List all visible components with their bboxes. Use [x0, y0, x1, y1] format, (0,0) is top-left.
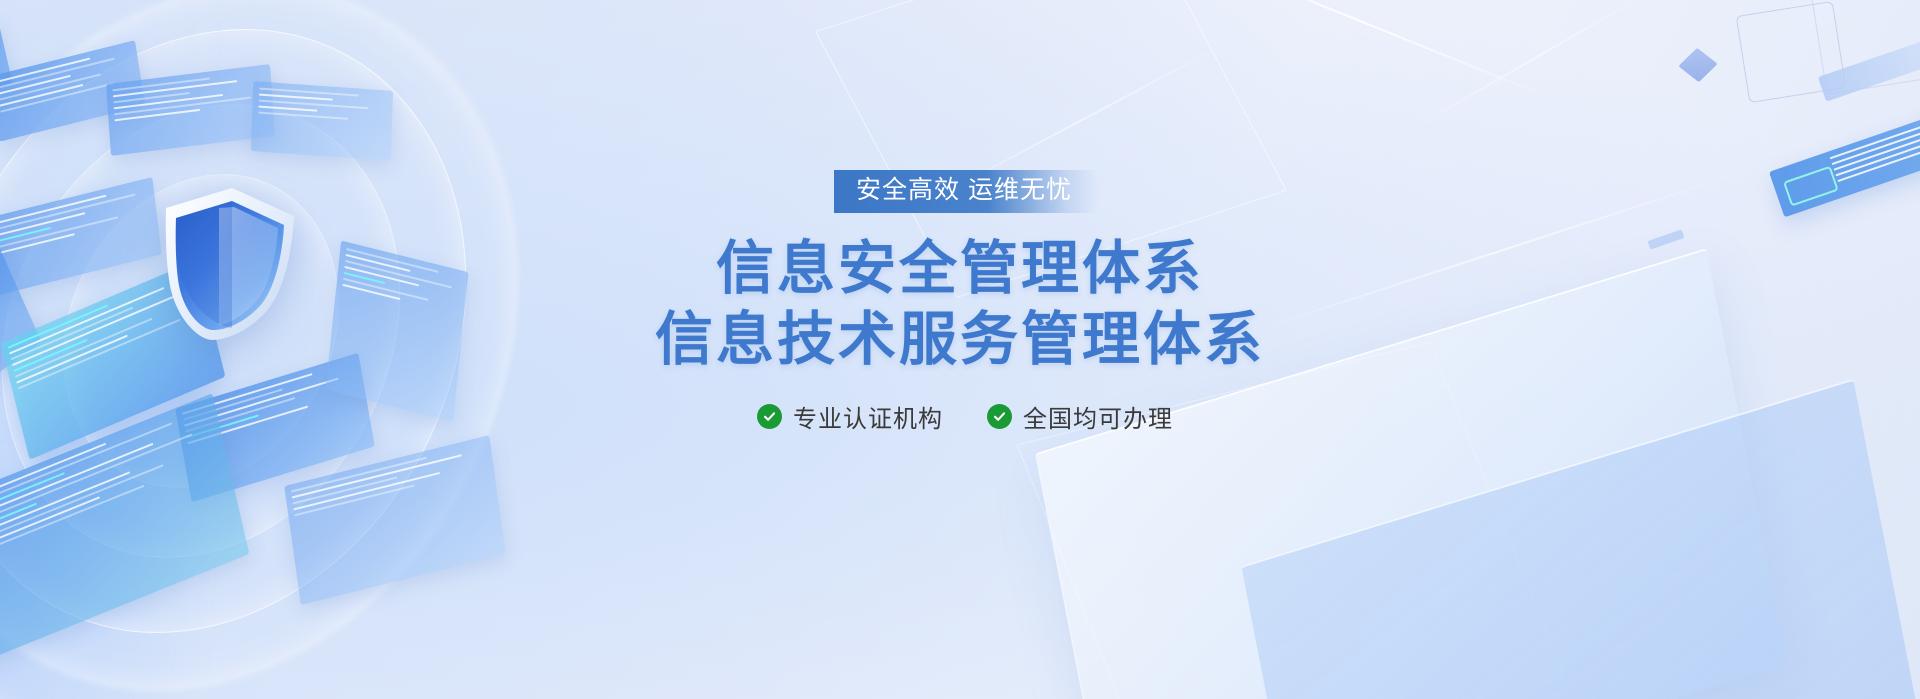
headline-secondary: 信息技术服务管理体系: [655, 306, 1265, 373]
feature-item: 专业认证机构: [757, 399, 943, 434]
check-circle-icon: [757, 404, 782, 429]
feature-label: 专业认证机构: [793, 399, 943, 434]
hero-banner: 安全高效 运维无忧 信息安全管理体系 信息技术服务管理体系 专业认证机构 全国: [0, 0, 1920, 699]
check-circle-icon: [987, 404, 1012, 429]
tagline-badge: 安全高效 运维无忧: [834, 170, 1098, 213]
headline-primary: 信息安全管理体系: [716, 235, 1204, 302]
feature-label: 全国均可办理: [1023, 399, 1173, 434]
feature-item: 全国均可办理: [987, 399, 1173, 434]
feature-list: 专业认证机构 全国均可办理: [757, 399, 1173, 434]
hero-content: 安全高效 运维无忧 信息安全管理体系 信息技术服务管理体系 专业认证机构 全国: [0, 0, 1920, 699]
